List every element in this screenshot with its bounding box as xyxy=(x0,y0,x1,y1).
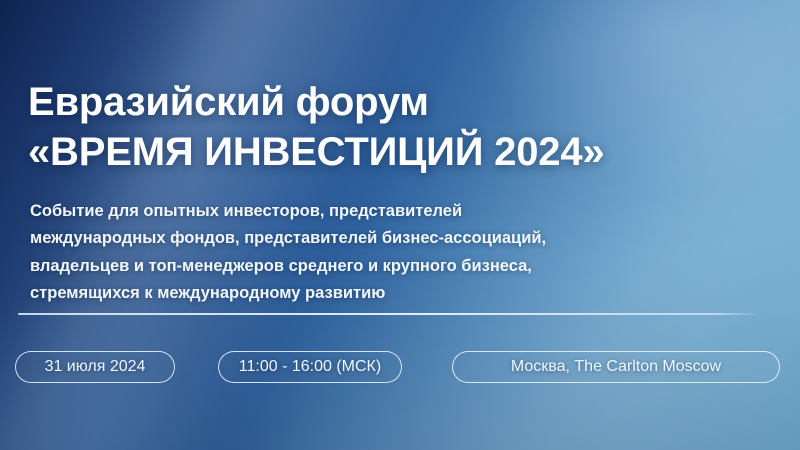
banner-content: Евразийский форум «ВРЕМЯ ИНВЕСТИЦИЙ 2024… xyxy=(0,0,800,450)
event-description-line-3: владельцев и топ-менеджеров среднего и к… xyxy=(30,253,772,281)
event-time-badge: 11:00 - 16:00 (МСК) xyxy=(218,351,402,383)
event-title-line-2: «ВРЕМЯ ИНВЕСТИЦИЙ 2024» xyxy=(28,127,780,177)
event-description-line-2: международных фондов, представителей биз… xyxy=(30,225,772,253)
event-description-line-1: Событие для опытных инвесторов, представ… xyxy=(30,198,772,226)
event-banner: Евразийский форум «ВРЕМЯ ИНВЕСТИЦИЙ 2024… xyxy=(0,0,800,450)
event-details-row: 31 июля 2024 11:00 - 16:00 (МСК) Москва,… xyxy=(15,351,785,385)
event-description: Событие для опытных инвесторов, представ… xyxy=(30,198,772,308)
section-divider xyxy=(18,313,760,315)
event-title-line-1: Евразийский форум xyxy=(28,77,780,127)
event-location-badge: Москва, The Carlton Moscow xyxy=(452,351,780,383)
event-title: Евразийский форум «ВРЕМЯ ИНВЕСТИЦИЙ 2024… xyxy=(28,77,780,177)
event-description-line-4: стремящихся к международному развитию xyxy=(30,280,772,308)
event-date-badge: 31 июля 2024 xyxy=(15,351,175,383)
